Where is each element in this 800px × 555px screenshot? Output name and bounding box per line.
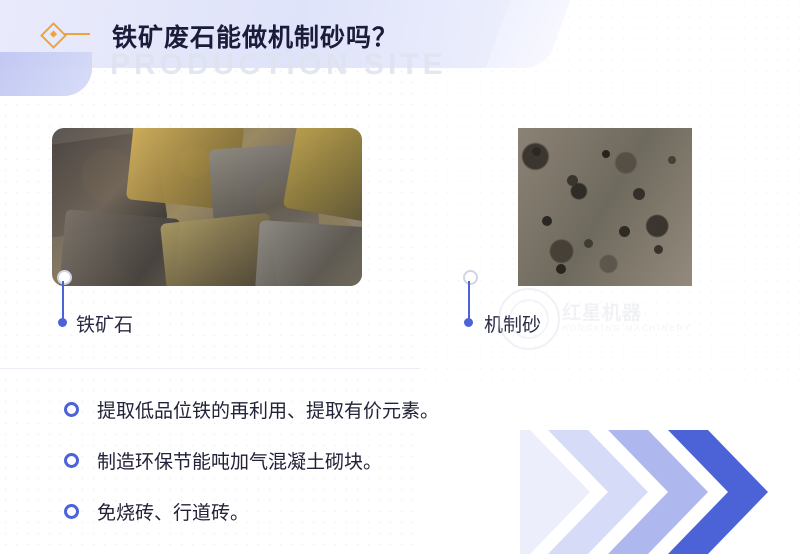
callout-anchor-dot-ore bbox=[57, 270, 72, 285]
list-item: 提取低品位铁的再利用、提取有价元素。 bbox=[64, 396, 439, 423]
brand-logo-text: 红星机器 bbox=[562, 298, 642, 325]
ore-rock-shape bbox=[283, 128, 362, 224]
bullet-text: 制造环保节能吨加气混凝土砌块。 bbox=[97, 447, 382, 474]
callout-label-ore: 铁矿石 bbox=[76, 310, 133, 337]
bullet-ring-icon bbox=[64, 402, 79, 417]
callout-stem-sand bbox=[468, 281, 470, 323]
header-watermark-text: PRODUCTION SITE bbox=[110, 48, 447, 82]
ore-rock-shape bbox=[254, 220, 362, 286]
callout-bullet-ore bbox=[58, 318, 67, 327]
bullet-ring-icon bbox=[64, 504, 79, 519]
callout-anchor-dot-sand bbox=[463, 270, 478, 285]
soft-divider bbox=[0, 368, 420, 369]
brand-watermark: 红星机器 HONGXING MACHINERY bbox=[498, 286, 664, 352]
sand-grain bbox=[654, 245, 663, 254]
callout-bullet-sand bbox=[464, 318, 473, 327]
bullet-text: 免烧砖、行道砖。 bbox=[97, 498, 249, 525]
sand-grain bbox=[567, 175, 578, 186]
photo-iron-ore bbox=[52, 128, 362, 286]
sand-grain bbox=[633, 188, 645, 200]
sand-pile bbox=[518, 128, 692, 286]
list-item: 制造环保节能吨加气混凝土砌块。 bbox=[64, 447, 382, 474]
sand-grain bbox=[542, 216, 552, 226]
photo-manufactured-sand bbox=[458, 128, 758, 286]
header-accent-line bbox=[64, 33, 90, 35]
callout-stem-ore bbox=[62, 281, 64, 323]
poster-root: 铁矿废石能做机制砂吗？ PRODUCTION SITE 铁矿石 bbox=[0, 0, 800, 555]
bullet-ring-icon bbox=[64, 453, 79, 468]
sand-grain bbox=[619, 226, 630, 237]
list-item: 免烧砖、行道砖。 bbox=[64, 498, 249, 525]
brand-logo-icon bbox=[498, 288, 560, 350]
sand-grain bbox=[556, 264, 566, 274]
header-corner-shape bbox=[0, 52, 92, 96]
bullet-text: 提取低品位铁的再利用、提取有价元素。 bbox=[97, 396, 439, 423]
brand-logo-subtext: HONGXING MACHINERY bbox=[562, 324, 692, 333]
sand-grain bbox=[584, 239, 593, 248]
chevron-decoration bbox=[520, 430, 800, 555]
sand-grain bbox=[602, 150, 610, 158]
sand-grain bbox=[532, 147, 541, 156]
sand-grain bbox=[668, 156, 676, 164]
